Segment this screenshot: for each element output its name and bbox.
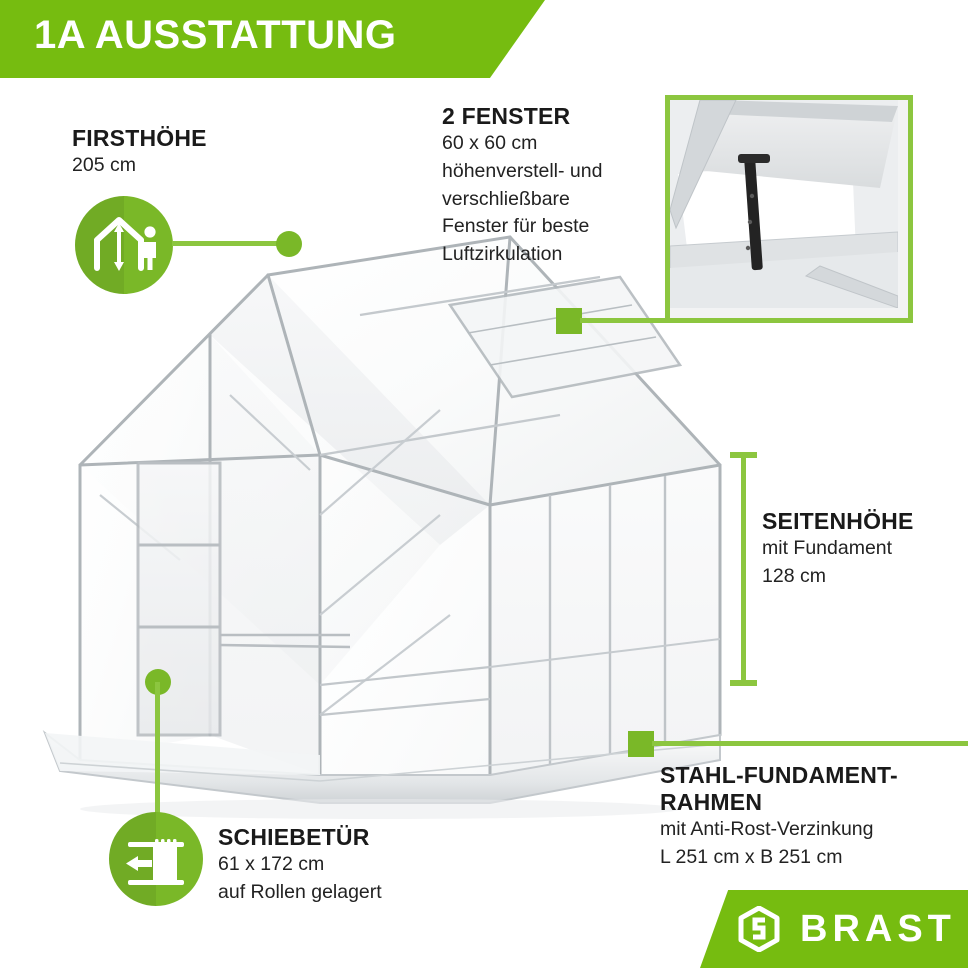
roof-window-detail-photo	[665, 95, 913, 323]
banner-title: 1A AUSSTATTUNG	[34, 13, 397, 58]
foundation-heading-line-1: STAHL-FUNDAMENT-	[660, 762, 898, 789]
sliding-door-connector	[155, 682, 160, 814]
windows-line-3: verschließbare	[442, 186, 602, 214]
brast-logo: BRAST	[700, 890, 968, 968]
dimension-stem	[741, 452, 746, 686]
greenhouse-height-icon	[75, 196, 173, 294]
foundation-line-2: L 251 cm x B 251 cm	[660, 844, 898, 872]
foundation-line-1: mit Anti-Rost-Verzinkung	[660, 816, 898, 844]
brast-hexagon-icon	[736, 906, 782, 957]
foundation-heading-line-2: RAHMEN	[660, 789, 898, 816]
sliding-door-heading: SCHIEBETÜR	[218, 824, 382, 851]
feature-ridge-height: FIRSTHÖHE 205 cm	[72, 125, 207, 180]
windows-line-5: Luftzirkulation	[442, 241, 602, 269]
side-height-heading: SEITENHÖHE	[762, 508, 914, 535]
sliding-door-line-1: 61 x 172 cm	[218, 851, 382, 879]
ridge-height-marker-dot	[276, 231, 302, 257]
brast-wordmark: BRAST	[800, 908, 956, 951]
windows-line-2: höhenverstell- und	[442, 158, 602, 186]
windows-marker-square	[556, 308, 582, 334]
foundation-marker-square	[628, 731, 654, 757]
side-height-line-2: 128 cm	[762, 563, 914, 591]
sliding-door-icon	[109, 812, 203, 906]
feature-foundation: STAHL-FUNDAMENT- RAHMEN mit Anti-Rost-Ve…	[660, 762, 898, 872]
windows-line-1: 60 x 60 cm	[442, 130, 602, 158]
feature-side-height: SEITENHÖHE mit Fundament 128 cm	[762, 508, 914, 591]
foundation-connector	[652, 741, 968, 746]
side-height-dimension-line	[730, 452, 757, 686]
ridge-height-value: 205 cm	[72, 152, 207, 180]
dimension-cap-bottom	[730, 680, 757, 686]
windows-line-4: Fenster für beste	[442, 213, 602, 241]
ridge-height-heading: FIRSTHÖHE	[72, 125, 207, 152]
windows-heading: 2 FENSTER	[442, 103, 602, 130]
feature-windows: 2 FENSTER 60 x 60 cm höhenverstell- und …	[442, 103, 602, 269]
feature-sliding-door: SCHIEBETÜR 61 x 172 cm auf Rollen gelage…	[218, 824, 382, 907]
side-height-line-1: mit Fundament	[762, 535, 914, 563]
infographic-page: 1A AUSSTATTUNG FIRSTHÖHE 205 cm 2 FENSTE…	[0, 0, 968, 968]
sliding-door-line-2: auf Rollen gelagert	[218, 879, 382, 907]
